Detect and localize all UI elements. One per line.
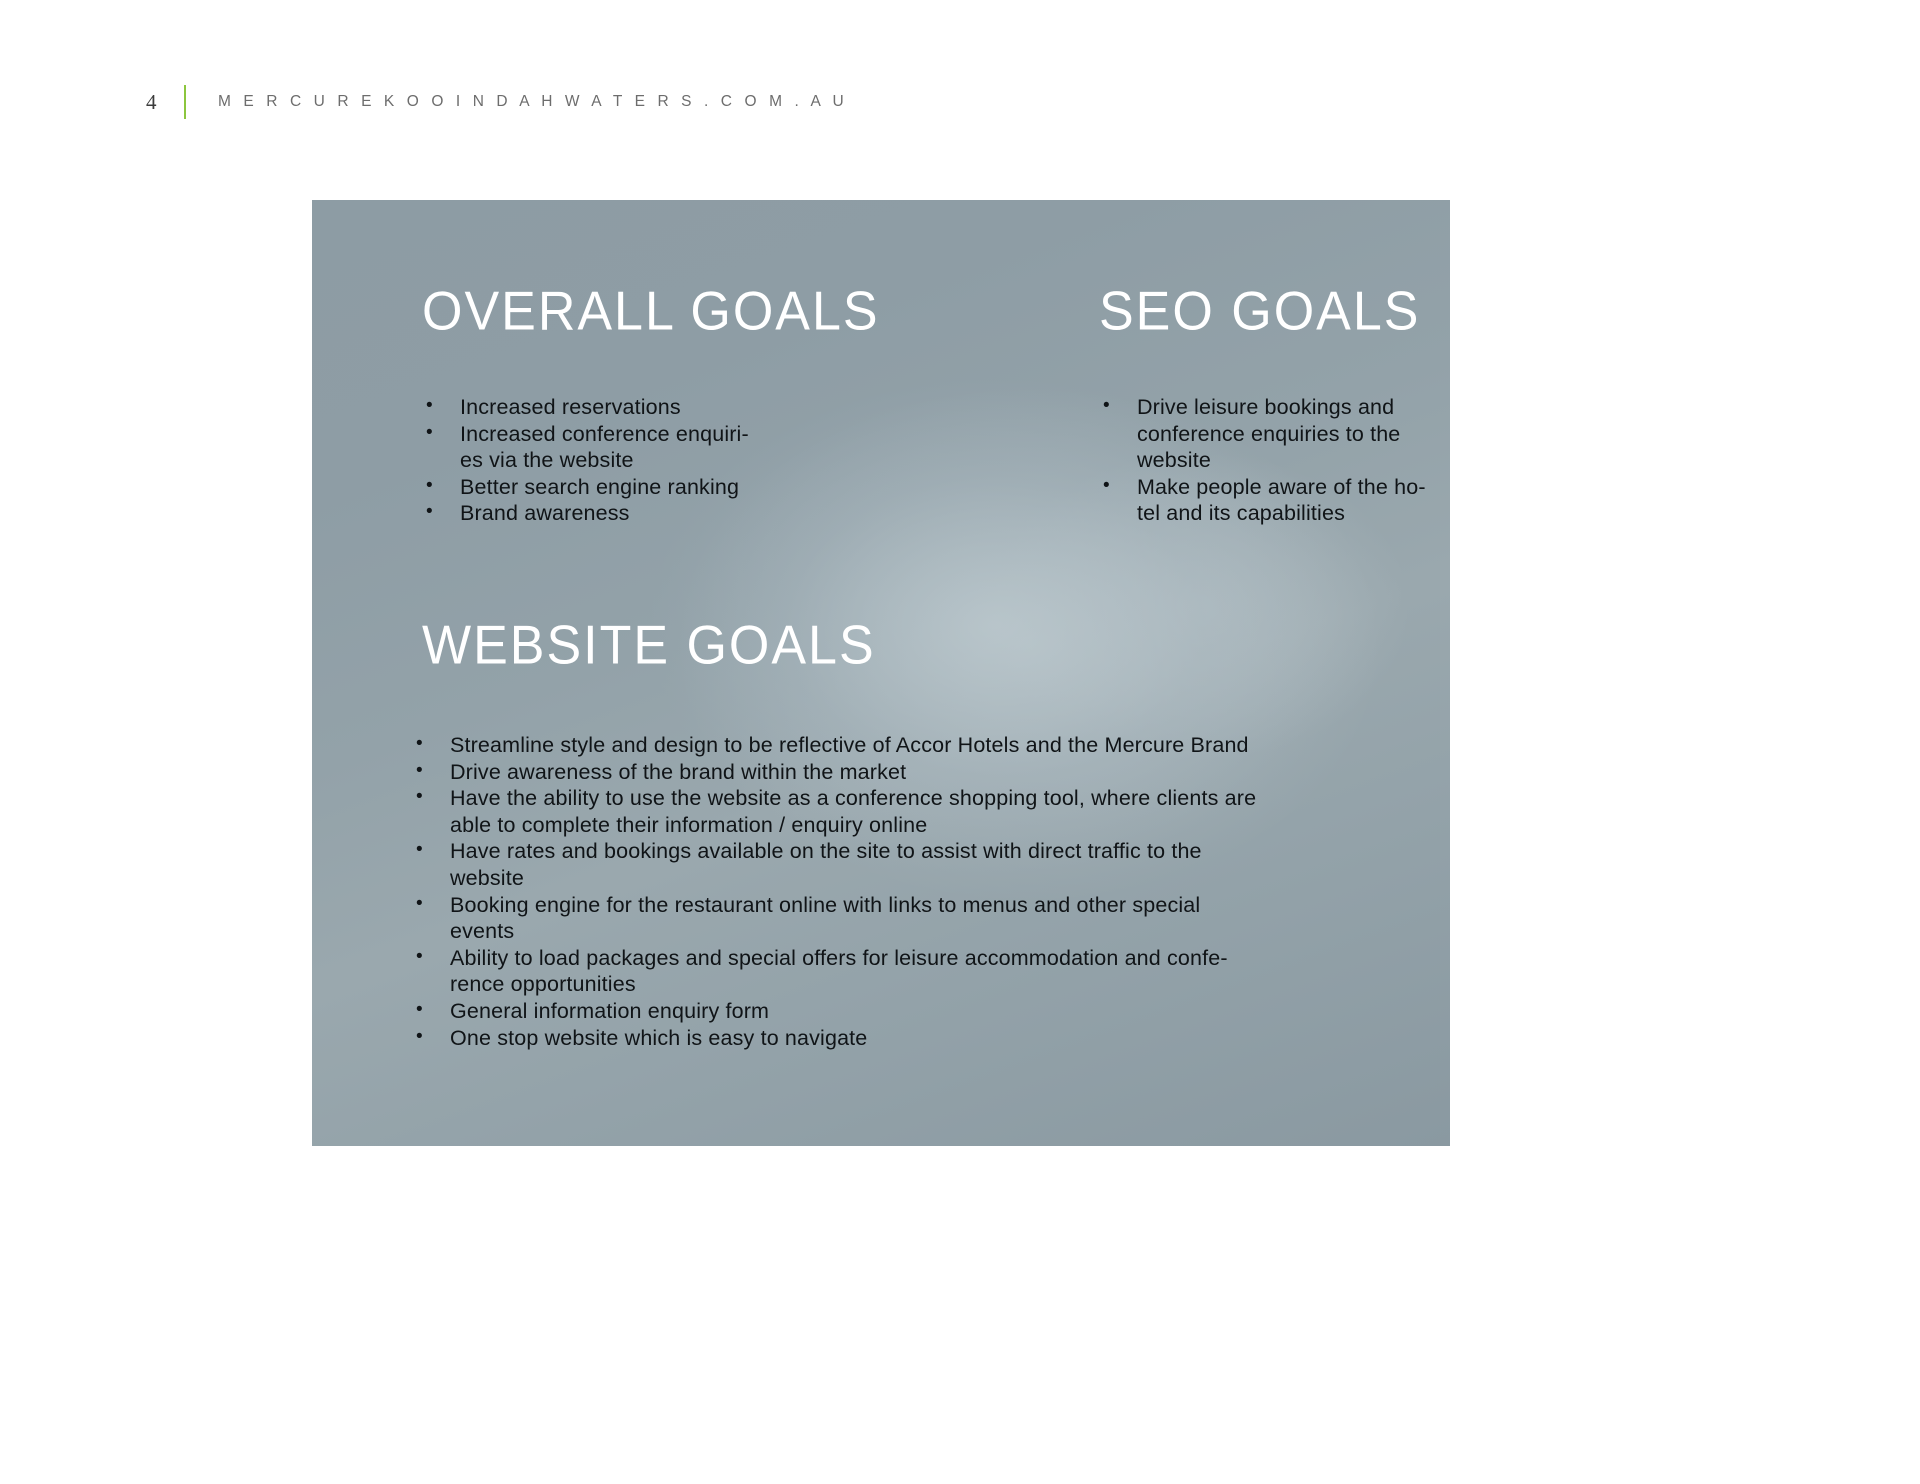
list-item-line: website xyxy=(1137,447,1450,474)
overall-goals-heading: OVERALL GOALS xyxy=(422,284,880,339)
page-number: 4 xyxy=(146,92,176,113)
list-item: General information enquiry form xyxy=(412,998,1432,1025)
list-item-line: es via the website xyxy=(460,447,892,474)
list-item: One stop website which is easy to naviga… xyxy=(412,1025,1432,1052)
list-item-line: Brand awareness xyxy=(460,500,892,527)
goals-panel: OVERALL GOALS SEO GOALS WEBSITE GOALS In… xyxy=(312,200,1450,1146)
list-item-line: rence opportunities xyxy=(450,971,1432,998)
page-header: 4 M E R C U R E K O O I N D A H W A T E … xyxy=(146,84,848,120)
list-item-line: Booking engine for the restaurant online… xyxy=(450,892,1432,919)
list-item: Drive leisure bookings andconference enq… xyxy=(1099,394,1450,474)
list-item-line: Ability to load packages and special off… xyxy=(450,945,1432,972)
list-item-line: Streamline style and design to be reflec… xyxy=(450,732,1432,759)
list-item: Make people aware of the ho-tel and its … xyxy=(1099,474,1450,527)
list-item-line: Better search engine ranking xyxy=(460,474,892,501)
list-item-line: Increased conference enquiri- xyxy=(460,421,892,448)
list-item-line: website xyxy=(450,865,1432,892)
list-item: Brand awareness xyxy=(422,500,892,527)
list-item: Better search engine ranking xyxy=(422,474,892,501)
list-item: Streamline style and design to be reflec… xyxy=(412,732,1432,759)
overall-goals-list: Increased reservationsIncreased conferen… xyxy=(422,394,892,527)
list-item-line: Drive awareness of the brand within the … xyxy=(450,759,1432,786)
list-item: Increased conference enquiri-es via the … xyxy=(422,421,892,474)
list-item-line: One stop website which is easy to naviga… xyxy=(450,1025,1432,1052)
header-website-url: M E R C U R E K O O I N D A H W A T E R … xyxy=(218,93,848,111)
list-item-line: Make people aware of the ho- xyxy=(1137,474,1450,501)
list-item-line: able to complete their information / enq… xyxy=(450,812,1432,839)
list-item: Drive awareness of the brand within the … xyxy=(412,759,1432,786)
website-goals-heading: WEBSITE GOALS xyxy=(422,618,876,673)
header-divider-rule xyxy=(184,85,186,119)
website-goals-list: Streamline style and design to be reflec… xyxy=(412,732,1432,1051)
list-item-line: conference enquiries to the xyxy=(1137,421,1450,448)
list-item-line: events xyxy=(450,918,1432,945)
list-item-line: General information enquiry form xyxy=(450,998,1432,1025)
list-item: Have the ability to use the website as a… xyxy=(412,785,1432,838)
seo-goals-list: Drive leisure bookings andconference enq… xyxy=(1099,394,1450,527)
list-item: Ability to load packages and special off… xyxy=(412,945,1432,998)
list-item-line: Have the ability to use the website as a… xyxy=(450,785,1432,812)
list-item: Increased reservations xyxy=(422,394,892,421)
list-item-line: tel and its capabilities xyxy=(1137,500,1450,527)
list-item-line: Have rates and bookings available on the… xyxy=(450,838,1432,865)
list-item-line: Increased reservations xyxy=(460,394,892,421)
list-item: Have rates and bookings available on the… xyxy=(412,838,1432,891)
list-item: Booking engine for the restaurant online… xyxy=(412,892,1432,945)
list-item-line: Drive leisure bookings and xyxy=(1137,394,1450,421)
seo-goals-heading: SEO GOALS xyxy=(1099,284,1420,339)
